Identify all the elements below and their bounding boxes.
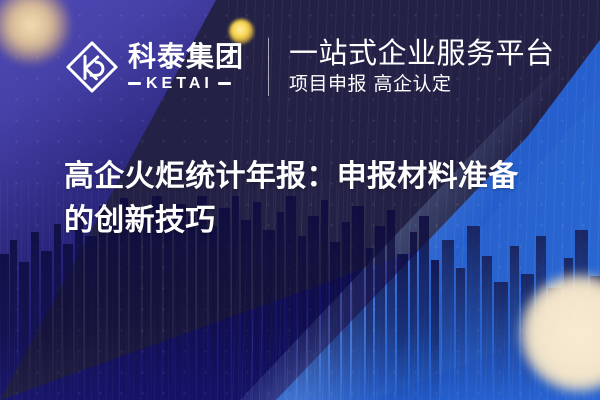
brand-name-cn: 科泰集团 <box>128 43 244 71</box>
tagline-main: 一站式企业服务平台 <box>289 38 555 69</box>
logo-wordmark: 科泰集团 KETAI <box>128 43 244 92</box>
tagline-block: 一站式企业服务平台 项目申报 高企认定 <box>289 38 555 96</box>
rule-left-icon <box>128 82 141 85</box>
header-divider <box>268 38 269 96</box>
brand-name-en-row: KETAI <box>128 76 244 92</box>
promo-banner: 科泰集团 KETAI 一站式企业服务平台 项目申报 高企认定 高企火炬统计年报：… <box>0 0 600 400</box>
brand-name-en: KETAI <box>146 76 213 92</box>
rule-right-icon <box>218 82 231 85</box>
ketai-logo-icon <box>64 39 120 95</box>
banner-header: 科泰集团 KETAI 一站式企业服务平台 项目申报 高企认定 <box>64 38 555 96</box>
headline-title: 高企火炬统计年报：申报材料准备的创新技巧 <box>64 155 534 243</box>
tagline-sub: 项目申报 高企认定 <box>289 74 555 96</box>
